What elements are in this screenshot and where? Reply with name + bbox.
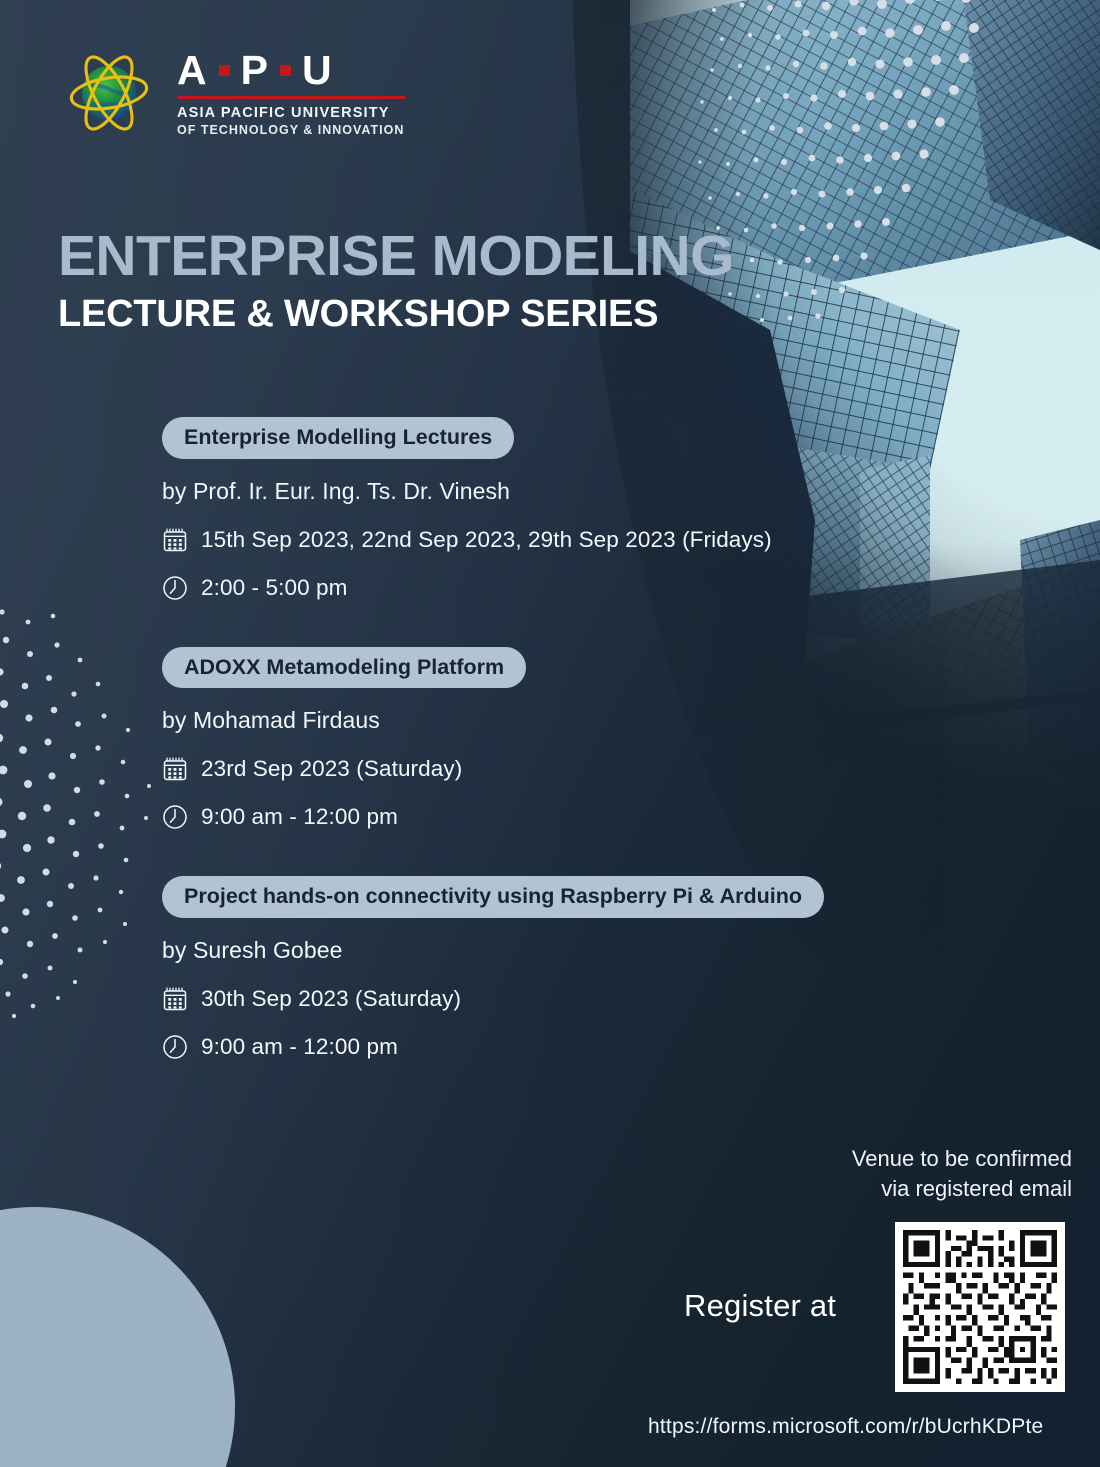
venue-line-1: Venue to be confirmed [692, 1144, 1072, 1174]
session-speaker: by Prof. Ir. Eur. Ing. Ts. Dr. Vinesh [162, 478, 952, 505]
session-speaker: by Mohamad Firdaus [162, 707, 952, 734]
clock-icon [162, 575, 188, 601]
session-date-row: 15th Sep 2023, 22nd Sep 2023, 29th Sep 2… [162, 527, 952, 553]
calendar-icon [162, 756, 188, 782]
qr-code-icon [903, 1230, 1057, 1384]
venue-line-2: via registered email [692, 1174, 1072, 1204]
headline-title: ENTERPRISE MODELING [58, 228, 734, 285]
apu-wordmark: A P U ASIA PACIFIC UNIVERSITY OF TECHNOL… [177, 48, 405, 138]
apu-acronym: A P U [177, 50, 405, 91]
apu-letter-u: U [302, 50, 333, 91]
clock-icon [162, 804, 188, 830]
qr-code[interactable] [895, 1222, 1065, 1392]
headline-subtitle: LECTURE & WORKSHOP SERIES [58, 295, 734, 335]
apu-divider-rule [177, 96, 405, 99]
session-date-text: 30th Sep 2023 (Saturday) [201, 986, 461, 1012]
session-title-badge: Project hands-on connectivity using Rasp… [162, 876, 824, 918]
session-item: ADOXX Metamodeling Platform by Mohamad F… [162, 647, 952, 831]
session-time-row: 9:00 am - 12:00 pm [162, 804, 952, 830]
session-time-row: 2:00 - 5:00 pm [162, 575, 952, 601]
session-time-row: 9:00 am - 12:00 pm [162, 1034, 952, 1060]
page-title: ENTERPRISE MODELING LECTURE & WORKSHOP S… [58, 228, 734, 335]
calendar-icon [162, 986, 188, 1012]
session-time-text: 2:00 - 5:00 pm [201, 575, 348, 601]
poster-root: A P U ASIA PACIFIC UNIVERSITY OF TECHNOL… [0, 0, 1100, 1467]
clock-icon [162, 1034, 188, 1060]
register-label: Register at [684, 1288, 836, 1324]
venue-note: Venue to be confirmed via registered ema… [692, 1144, 1072, 1205]
session-item: Enterprise Modelling Lectures by Prof. I… [162, 417, 952, 601]
session-date-row: 30th Sep 2023 (Saturday) [162, 986, 952, 1012]
corner-circle-decoration [0, 1207, 235, 1467]
session-date-text: 23rd Sep 2023 (Saturday) [201, 756, 462, 782]
session-title-badge: Enterprise Modelling Lectures [162, 417, 514, 459]
apu-separator-square-1 [219, 65, 230, 76]
apu-logo: A P U ASIA PACIFIC UNIVERSITY OF TECHNOL… [55, 48, 405, 138]
session-item: Project hands-on connectivity using Rasp… [162, 876, 952, 1060]
session-time-text: 9:00 am - 12:00 pm [201, 804, 398, 830]
apu-name-line1: ASIA PACIFIC UNIVERSITY [177, 104, 405, 122]
apu-letter-p: P [241, 50, 269, 91]
apu-separator-square-2 [280, 65, 291, 76]
session-time-text: 9:00 am - 12:00 pm [201, 1034, 398, 1060]
session-speaker: by Suresh Gobee [162, 937, 952, 964]
apu-name-line2: OF TECHNOLOGY & INNOVATION [177, 122, 405, 138]
session-list: Enterprise Modelling Lectures by Prof. I… [162, 417, 952, 1060]
apu-letter-a: A [177, 50, 208, 91]
session-title-badge: ADOXX Metamodeling Platform [162, 647, 526, 689]
calendar-icon [162, 527, 188, 553]
session-date-row: 23rd Sep 2023 (Saturday) [162, 756, 952, 782]
register-url[interactable]: https://forms.microsoft.com/r/bUcrhKDPte [648, 1415, 1043, 1439]
session-date-text: 15th Sep 2023, 22nd Sep 2023, 29th Sep 2… [201, 527, 772, 553]
apu-globe-atom-logo-icon [55, 49, 163, 137]
